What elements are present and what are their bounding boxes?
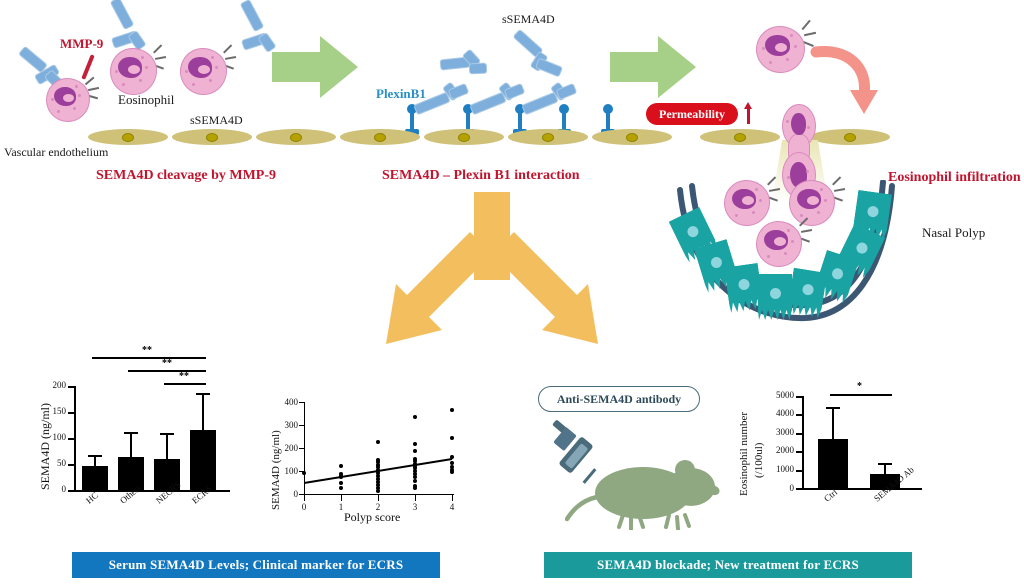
significance-stars: **: [179, 371, 189, 382]
mouse-icon: [565, 455, 725, 530]
bar-ctrl: [818, 439, 848, 488]
stage2-caption: SEMA4D – Plexin B1 interaction: [382, 168, 580, 184]
permeability-up-arrow-icon: [744, 102, 752, 124]
scatter-point: [302, 471, 306, 475]
eos-chart-ylabel-line1: Eosinophil number: [738, 412, 750, 496]
scatter-point: [413, 415, 417, 419]
endothelial-cell: [172, 129, 252, 145]
endothelial-cell: [508, 129, 588, 145]
endothelial-cell: [424, 129, 504, 145]
scatter-point: [339, 464, 343, 468]
eosinophil-cell: [108, 44, 164, 96]
endothelial-cell: [256, 129, 336, 145]
green-arrow-icon: [610, 36, 696, 98]
endothelial-cell: [700, 129, 780, 145]
ssema4d-label-mid: sSEMA4D: [502, 12, 555, 27]
scatter-point: [413, 442, 417, 446]
anti-sema4d-antibody-pill: Anti-SEMA4D antibody: [538, 386, 700, 412]
stage1-caption: SEMA4D cleavage by MMP-9: [96, 168, 276, 184]
bar-ecrs: [190, 430, 216, 490]
permeability-badge: Permeability: [646, 103, 738, 125]
polyp-score-scatter-chart: SEMA4D (ng/ml) 0 100 200 300 400 0 1 2 3…: [258, 382, 478, 532]
significance-stars: **: [162, 358, 172, 369]
eosinophil-number-bar-chart: Eosinophil number (/100ul) 0 1000 2000 3…: [726, 378, 966, 538]
mmp9-label: MMP-9: [60, 36, 103, 52]
ssema4d-molecule: [440, 52, 494, 78]
scatter-point: [376, 440, 380, 444]
eos-chart-ylabel-line2: (/100ul): [753, 443, 765, 478]
scatter-point: [339, 481, 343, 485]
scatter-point: [339, 486, 343, 490]
scatter-point: [450, 455, 454, 459]
ssema4d-bound-molecule: [522, 84, 578, 114]
scatter-point: [413, 486, 417, 490]
ssema4d-bound-molecule: [414, 84, 470, 114]
ssema4d-bound-molecule: [470, 84, 526, 114]
significance-bar: [830, 394, 892, 396]
significance-stars: *: [857, 381, 862, 392]
vascular-endothelium-label: Vascular endothelium: [4, 145, 108, 160]
significance-bar: [164, 383, 206, 385]
y-axis: [802, 396, 804, 489]
endothelial-cell: [592, 129, 672, 145]
scatter-point: [339, 475, 343, 479]
bar-chart-ylabel: SEMA4D (ng/ml): [38, 403, 53, 490]
scatter-point: [450, 408, 454, 412]
stage3-caption: Eosinophil infiltration: [888, 170, 1021, 186]
endothelial-cell: [88, 129, 168, 145]
scatter-point: [413, 479, 417, 483]
green-arrow-icon: [272, 36, 358, 98]
endothelial-cell: [810, 129, 890, 145]
significance-stars: **: [142, 345, 152, 356]
banner-right: SEMA4D blockade; New treatment for ECRS: [544, 552, 912, 578]
nasal-polyp-label: Nasal Polyp: [922, 225, 985, 241]
scatter-point: [450, 470, 454, 474]
scatter-point: [413, 449, 417, 453]
scatter-points: [258, 382, 478, 532]
banner-left: Serum SEMA4D Levels; Clinical marker for…: [72, 552, 440, 578]
xtick-hc: HC: [84, 490, 100, 506]
eosinophil-cell: [756, 22, 816, 76]
scatter-point: [376, 489, 380, 493]
significance-bar: [92, 357, 206, 359]
migration-arrow-icon: [810, 42, 890, 122]
eosinophil-label: Eosinophil: [118, 92, 174, 108]
ssema4d-label-left: sSEMA4D: [190, 113, 243, 128]
eosinophil-cell: [178, 44, 234, 96]
scatter-point: [450, 436, 454, 440]
ssema4d-molecule: [512, 34, 568, 82]
endothelial-cell: [340, 129, 420, 145]
x-axis: [802, 488, 922, 490]
orange-split-arrow-icon: [382, 192, 602, 352]
eosinophil-cell: [44, 74, 96, 124]
bar-others: [118, 457, 144, 490]
bar-hc: [82, 466, 108, 490]
significance-bar: [128, 370, 206, 372]
serum-sema4d-bar-chart: SEMA4D (ng/ml) 0 50 100 150 200 ** ** **…: [22, 340, 262, 540]
